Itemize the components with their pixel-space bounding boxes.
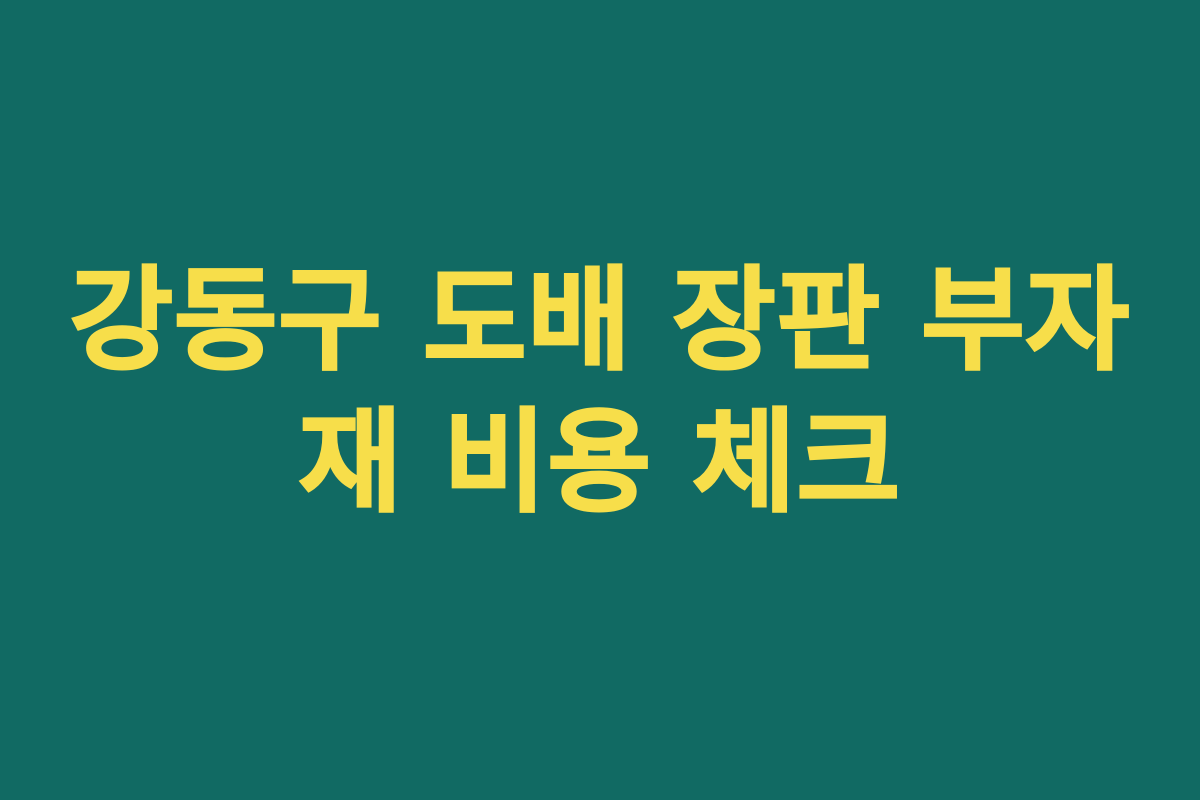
- headline-line-1: 강동구 도배 장판 부자: [40, 250, 1160, 392]
- headline-line-2: 재 비용 체크: [40, 392, 1160, 534]
- thumbnail-card: 강동구 도배 장판 부자 재 비용 체크: [0, 0, 1200, 800]
- headline-block: 강동구 도배 장판 부자 재 비용 체크: [0, 250, 1200, 534]
